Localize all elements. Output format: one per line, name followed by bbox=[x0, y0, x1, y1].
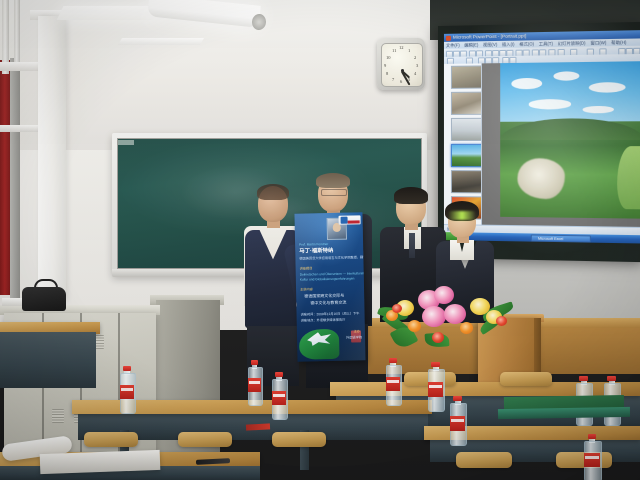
hair bbox=[316, 173, 350, 188]
taskbar-item-excel[interactable]: Microsoft Excel bbox=[531, 234, 591, 242]
clock-numeral: 10 bbox=[386, 56, 391, 61]
clock-face: 12 1 2 3 4 5 6 7 8 9 10 11 bbox=[381, 43, 423, 87]
clock-numeral: 9 bbox=[384, 64, 386, 69]
water-bottle bbox=[428, 362, 443, 410]
slide-editing-area[interactable] bbox=[482, 61, 640, 227]
clock-numeral: 11 bbox=[392, 49, 396, 54]
clock-numeral: 3 bbox=[416, 64, 418, 69]
red-carnation bbox=[432, 332, 444, 343]
wall-clock: 12 1 2 3 4 5 6 7 8 9 10 11 bbox=[377, 38, 425, 90]
poster-time: 讲座时间：2009年12月16日（周三）下午 bbox=[301, 311, 360, 317]
locker-vent bbox=[52, 409, 64, 423]
green-grass-graphic bbox=[299, 329, 340, 360]
clock-numeral: 12 bbox=[399, 46, 404, 51]
poster-speaker-name: 马丁·福斯特纳 bbox=[299, 247, 333, 256]
menu-item-file[interactable]: 文件(F) bbox=[446, 43, 460, 48]
presentation-poster: Prof. Martin Forstner 马丁·福斯特纳 德国美因茨大学应用语… bbox=[294, 212, 365, 361]
classroom-photo-scene: 12 1 2 3 4 5 6 7 8 9 10 11 Microsoft Pow… bbox=[0, 0, 640, 480]
bottle-label-stripe bbox=[429, 385, 442, 388]
laser-pointer-glare bbox=[448, 211, 476, 220]
wall-column bbox=[38, 16, 66, 301]
clock-numeral: 2 bbox=[414, 56, 416, 61]
menu-item-format[interactable]: 格式(O) bbox=[519, 41, 534, 46]
slide-thumbnail[interactable]: 5 bbox=[451, 170, 482, 193]
ceiling-light-icon bbox=[118, 38, 204, 45]
chair-backrest bbox=[500, 372, 552, 386]
logo-mark-icon bbox=[340, 217, 347, 224]
red-object-on-desk bbox=[246, 423, 270, 430]
water-bottle bbox=[450, 396, 465, 444]
chair-backrest bbox=[178, 432, 232, 447]
curtain-rail bbox=[10, 58, 20, 298]
hair bbox=[257, 184, 289, 200]
poster-label-content: 主讲内容 bbox=[300, 287, 313, 292]
bottle-label-stripe bbox=[451, 419, 464, 422]
red-carnation bbox=[392, 304, 402, 313]
pink-lily bbox=[444, 304, 466, 324]
bottle-label-stripe bbox=[121, 388, 133, 391]
chair-backrest bbox=[456, 452, 512, 468]
poster-affiliation: 德国美因茨大学应用语言与文化学院教授、翻译学博士 bbox=[299, 255, 365, 261]
chalk-piece bbox=[118, 140, 134, 145]
desk-surface bbox=[330, 382, 640, 396]
flower-arrangement bbox=[378, 282, 518, 344]
menu-item-slideshow[interactable]: 幻灯片放映(D) bbox=[558, 40, 586, 46]
poster-content-line-2: 德中文化与教育交流 bbox=[310, 300, 346, 307]
poster-place: 讲座地点：外语楼多媒体报告厅 bbox=[301, 318, 346, 324]
black-bag bbox=[22, 287, 66, 311]
water-bottle bbox=[272, 372, 286, 418]
water-bottle bbox=[386, 358, 400, 404]
current-slide[interactable] bbox=[500, 61, 640, 218]
cloud-shape bbox=[528, 99, 571, 109]
water-bottle bbox=[584, 434, 600, 480]
water-bottle bbox=[248, 360, 261, 404]
hair bbox=[394, 187, 428, 204]
bottle-label-stripe bbox=[249, 381, 260, 384]
pink-lily bbox=[422, 306, 446, 327]
menu-item-insert[interactable]: 插入(I) bbox=[502, 42, 515, 47]
poster-content-line-1: 德语国家跨文化交际与 bbox=[304, 293, 344, 300]
bottle-label-stripe bbox=[387, 380, 399, 383]
powerpoint-app-icon bbox=[445, 35, 450, 40]
eyeglasses-icon bbox=[321, 189, 347, 196]
blouse-collar bbox=[450, 240, 474, 260]
chair-backrest bbox=[84, 432, 138, 447]
poster-label-topic: 讲座题目 bbox=[300, 266, 313, 271]
university-logo bbox=[339, 215, 361, 224]
slide-thumbnail[interactable]: 1 bbox=[451, 65, 482, 88]
clock-numeral: 8 bbox=[386, 72, 388, 77]
clock-numeral: 6 bbox=[400, 80, 402, 85]
necktie bbox=[409, 233, 415, 258]
menu-item-tools[interactable]: 工具(T) bbox=[539, 41, 553, 46]
water-bottle bbox=[120, 366, 134, 412]
bottle-label-stripe bbox=[273, 394, 285, 397]
poster-topic-line-2: Kultur und Globalisierungserfahrungen bbox=[300, 276, 355, 282]
poster-host-label: 主办 bbox=[354, 330, 360, 335]
logo-bar bbox=[348, 220, 360, 223]
clock-numeral: 7 bbox=[392, 78, 394, 83]
menu-item-help[interactable]: 帮助(H) bbox=[611, 40, 626, 45]
menu-item-window[interactable]: 窗口(W) bbox=[590, 40, 606, 45]
menu-item-edit[interactable]: 编辑(E) bbox=[464, 42, 478, 47]
chair-backrest bbox=[272, 432, 326, 447]
bottle-label-stripe bbox=[585, 456, 598, 459]
slide-clearing bbox=[617, 146, 640, 209]
slide-thumbnail[interactable]: 3 bbox=[451, 118, 482, 141]
side-desk-body bbox=[0, 332, 96, 388]
clock-center-pin bbox=[401, 69, 404, 72]
menu-item-view[interactable]: 视图(V) bbox=[483, 42, 497, 47]
pink-lily bbox=[434, 286, 454, 304]
red-carnation bbox=[496, 316, 507, 326]
book-stack bbox=[40, 450, 161, 474]
slide-thumbnail[interactable]: 2 bbox=[451, 92, 482, 115]
orange-carnation bbox=[408, 320, 421, 332]
orange-carnation bbox=[460, 322, 473, 334]
clock-numeral: 4 bbox=[414, 72, 416, 77]
clock-numeral: 1 bbox=[408, 49, 410, 54]
wall-pipe bbox=[14, 0, 20, 66]
poster-host-org: 外国语学院 bbox=[346, 336, 362, 341]
slide-thumbnail-selected[interactable]: 4 bbox=[451, 144, 482, 167]
